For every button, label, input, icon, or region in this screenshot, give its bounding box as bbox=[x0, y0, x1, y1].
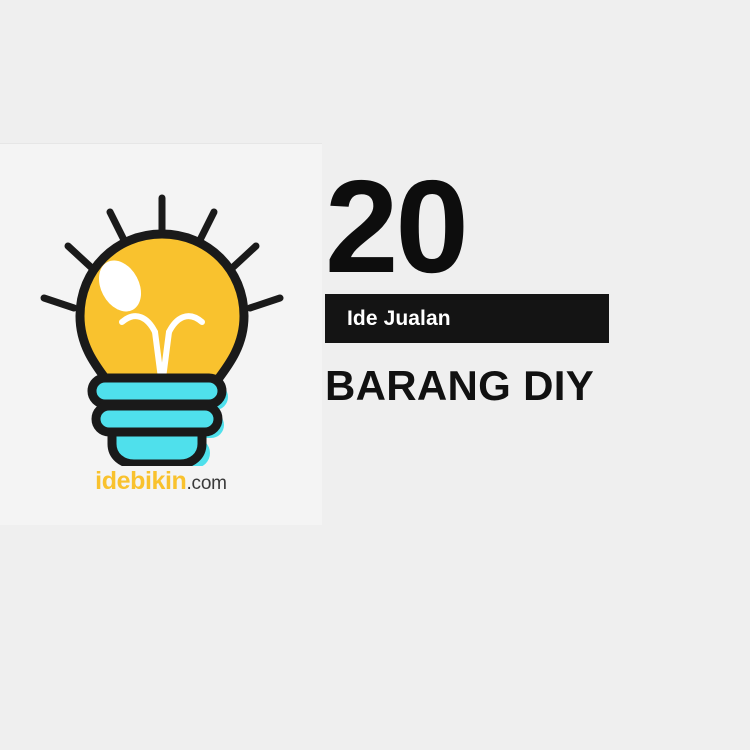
poster-canvas: idebikin.com 20 Ide Jualan BARANG DIY bbox=[0, 0, 750, 750]
brand-tld: .com bbox=[186, 473, 226, 494]
category-ribbon: Ide Jualan bbox=[325, 294, 609, 343]
brand-name: idebikin bbox=[95, 467, 186, 495]
category-label: Ide Jualan bbox=[325, 307, 451, 331]
idea-count: 20 bbox=[325, 170, 745, 288]
brand-wordmark: idebikin.com bbox=[0, 469, 322, 494]
content-block: 20 Ide Jualan BARANG DIY bbox=[325, 170, 745, 407]
lightbulb-icon bbox=[12, 186, 312, 466]
logo-card: idebikin.com bbox=[0, 143, 322, 525]
page-title: BARANG DIY bbox=[325, 365, 745, 407]
